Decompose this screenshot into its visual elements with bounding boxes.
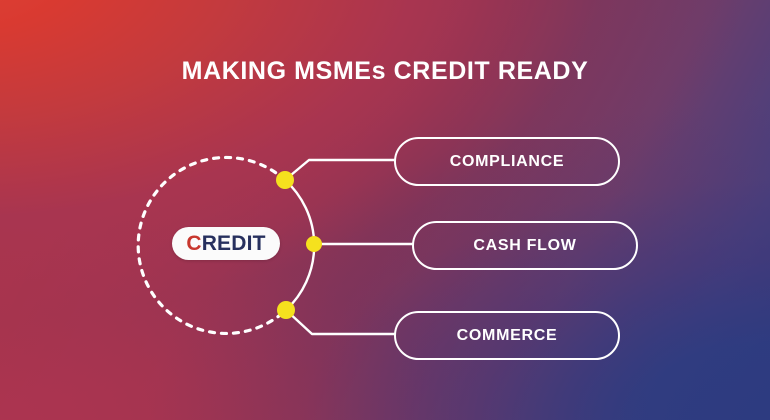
credit-logo-initial: C [186,232,201,255]
infographic-canvas: MAKING MSMEs CREDIT READY CREDIT COMPLIA… [0,0,770,420]
credit-logo-badge: CREDIT [172,227,280,260]
credit-logo-remainder: REDIT [202,232,266,255]
branch-pill-commerce[interactable]: COMMERCE [394,311,620,360]
node-dot-compliance[interactable] [276,171,294,189]
branch-label-compliance: COMPLIANCE [450,153,565,171]
connector-line-commerce [286,310,394,334]
branch-label-commerce: COMMERCE [457,327,558,345]
branch-label-cash-flow: CASH FLOW [473,237,576,255]
branch-pill-cash-flow[interactable]: CASH FLOW [412,221,638,270]
connector-line-compliance [285,160,394,180]
node-dot-cash-flow[interactable] [306,236,322,252]
node-dot-commerce[interactable] [277,301,295,319]
branch-pill-compliance[interactable]: COMPLIANCE [394,137,620,186]
hub-and-spoke-diagram [0,0,770,420]
credit-logo-text: CREDIT [186,233,265,254]
